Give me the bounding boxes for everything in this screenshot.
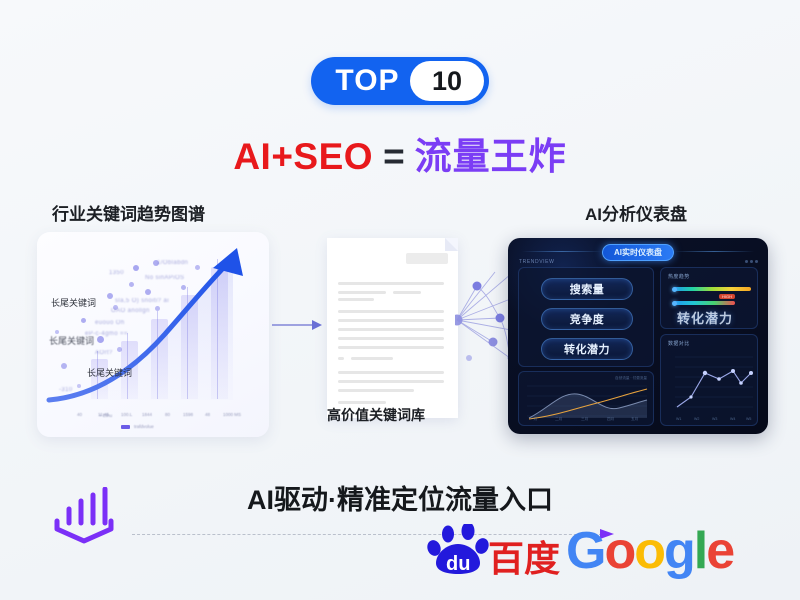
heat-gradient-bar-1 bbox=[673, 287, 751, 291]
decorative-text: No sinAPiOS bbox=[145, 275, 184, 281]
ai-dashboard: AI实时仪表盘 TRENDVIEW 搜索量 竞争度 转化潜力 自然流量 · 付费… bbox=[508, 238, 768, 434]
heat-status-chip: HIGH bbox=[719, 294, 735, 299]
decorative-text: AOrt? bbox=[95, 350, 113, 356]
legend-label: trafdvolue bbox=[134, 424, 154, 429]
dashboard-title-badge: AI实时仪表盘 bbox=[602, 244, 674, 261]
page-title: AI+SEO=流量王炸 bbox=[0, 126, 800, 180]
google-letter: g bbox=[664, 522, 694, 580]
page-fold-corner bbox=[445, 238, 458, 251]
keyword-label: 长尾关键词 bbox=[87, 366, 132, 379]
keyword-library-document bbox=[327, 238, 458, 418]
heat-bar-knob[interactable] bbox=[672, 301, 677, 306]
doc-card-caption: 高价值关键词库 bbox=[327, 405, 467, 425]
title-equals-sign: = bbox=[383, 136, 405, 177]
pill-search-volume[interactable]: 搜索量 bbox=[541, 278, 633, 300]
google-logo: Google bbox=[566, 521, 733, 581]
chart-legend: trafdvolue bbox=[121, 424, 154, 429]
heat-bar-knob[interactable] bbox=[672, 287, 677, 292]
axis-tick: W2 bbox=[694, 417, 699, 421]
top-badge-number: 10 bbox=[410, 61, 484, 101]
bar-chart-podium-icon bbox=[47, 487, 121, 549]
caption-right-dashboard: AI分析仪表盘 bbox=[585, 200, 687, 225]
axis-tick: 三月 bbox=[581, 417, 588, 422]
decorative-text: OAO anollgn bbox=[111, 308, 150, 314]
axis-tick: 40 bbox=[77, 412, 82, 417]
baidu-mark-text: du bbox=[446, 553, 470, 575]
pill-competition[interactable]: 竞争度 bbox=[541, 308, 633, 330]
axis-tick: W1 bbox=[676, 417, 681, 421]
arrow-right-icon bbox=[272, 318, 324, 332]
doc-header-block bbox=[406, 253, 448, 264]
top-badge-label: TOP bbox=[311, 64, 410, 98]
axis-caption: + Ethu bbox=[99, 413, 112, 418]
baidu-logo: du 百度 bbox=[424, 524, 560, 581]
google-letter: e bbox=[706, 522, 733, 580]
heat-panel-overlay-text: 转化潜力 bbox=[677, 308, 733, 327]
dashboard-brand-label: TRENDVIEW bbox=[519, 259, 554, 265]
axis-tick: W4 bbox=[730, 417, 735, 421]
google-letter: G bbox=[566, 522, 604, 580]
axis-tick: 1598 bbox=[183, 412, 193, 417]
title-part-traffic: 流量王炸 bbox=[415, 136, 567, 177]
decorative-text: 1350 bbox=[109, 270, 124, 276]
legend-swatch bbox=[121, 425, 130, 429]
pill-conversion[interactable]: 转化潜力 bbox=[541, 338, 633, 360]
axis-tick: 一月 bbox=[530, 417, 537, 422]
google-letter: l bbox=[694, 522, 706, 580]
keyword-label: 长尾关键词 bbox=[49, 334, 94, 347]
axis-tick: W5 bbox=[746, 417, 751, 421]
decorative-text: 1/Oblabdn bbox=[157, 260, 188, 266]
keyword-trend-card: 1/Oblabdn No sinAPiOS sla,5 O) snoiti? a… bbox=[37, 232, 269, 437]
axis-tick: 80 bbox=[165, 412, 170, 417]
decorative-text: euouo Oh bbox=[95, 320, 125, 326]
google-letter: o bbox=[634, 522, 664, 580]
axis-tick: 1844 bbox=[142, 412, 152, 417]
decorative-text: -310 bbox=[59, 387, 73, 393]
axis-tick: 四月 bbox=[607, 417, 614, 422]
heat-gradient-bar-2 bbox=[673, 301, 735, 305]
keyword-trend-chart: 1/Oblabdn No sinAPiOS sla,5 O) snoiti? a… bbox=[37, 232, 269, 437]
metrics-panel: 搜索量 竞争度 转化潜力 bbox=[518, 267, 654, 367]
keyword-label: 长尾关键词 bbox=[51, 296, 96, 309]
caption-left-chart: 行业关键词趋势图谱 bbox=[52, 200, 205, 225]
google-letter: o bbox=[604, 522, 634, 580]
axis-tick: 二月 bbox=[555, 417, 562, 422]
axis-tick: 100.L bbox=[121, 412, 132, 417]
baidu-wordmark: 百度 bbox=[488, 538, 560, 576]
trend-chart-panel: 数据对比 W1 W2 W3 W4 W5 bbox=[660, 334, 758, 426]
heat-panel: 热度趋势 HIGH 转化潜力 bbox=[660, 267, 758, 329]
axis-tick: W3 bbox=[712, 417, 717, 421]
dashboard-menu-dots[interactable] bbox=[745, 260, 758, 263]
area-chart-panel: 自然流量 · 付费流量 一月 二月 三月 四月 五月 bbox=[518, 371, 654, 426]
axis-tick: 48 bbox=[205, 412, 210, 417]
heat-panel-title: 热度趋势 bbox=[668, 273, 690, 280]
axis-tick: 1000 MS bbox=[223, 412, 241, 417]
axis-tick: 五月 bbox=[631, 417, 638, 422]
decorative-text: sla,5 O) snoiti? ai bbox=[115, 298, 169, 304]
top-badge: TOP 10 bbox=[311, 57, 489, 105]
title-part-ai-seo: AI+SEO bbox=[233, 136, 373, 177]
